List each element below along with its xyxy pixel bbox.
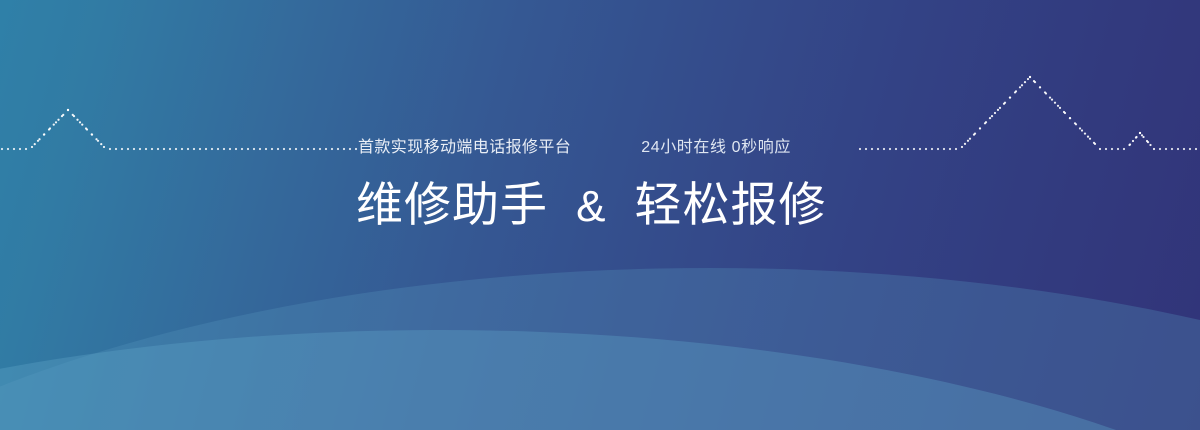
banner-text-block: 首款实现移动端电话报修平台 24小时在线 0秒响应 维修助手 & 轻松报修 bbox=[0, 0, 1200, 430]
banner-subtitle-primary: 首款实现移动端电话报修平台 bbox=[358, 138, 571, 158]
banner-subtitle-secondary: 24小时在线 0秒响应 bbox=[641, 138, 791, 158]
promo-banner: 首款实现移动端电话报修平台 24小时在线 0秒响应 维修助手 & 轻松报修 bbox=[0, 0, 1200, 430]
banner-subtitle-row: 首款实现移动端电话报修平台 24小时在线 0秒响应 bbox=[358, 138, 791, 158]
banner-title: 维修助手 & 轻松报修 bbox=[356, 176, 826, 236]
banner-title-left: 维修助手 bbox=[356, 178, 548, 231]
banner-title-separator: & bbox=[562, 182, 620, 231]
banner-title-right: 轻松报修 bbox=[634, 178, 826, 231]
